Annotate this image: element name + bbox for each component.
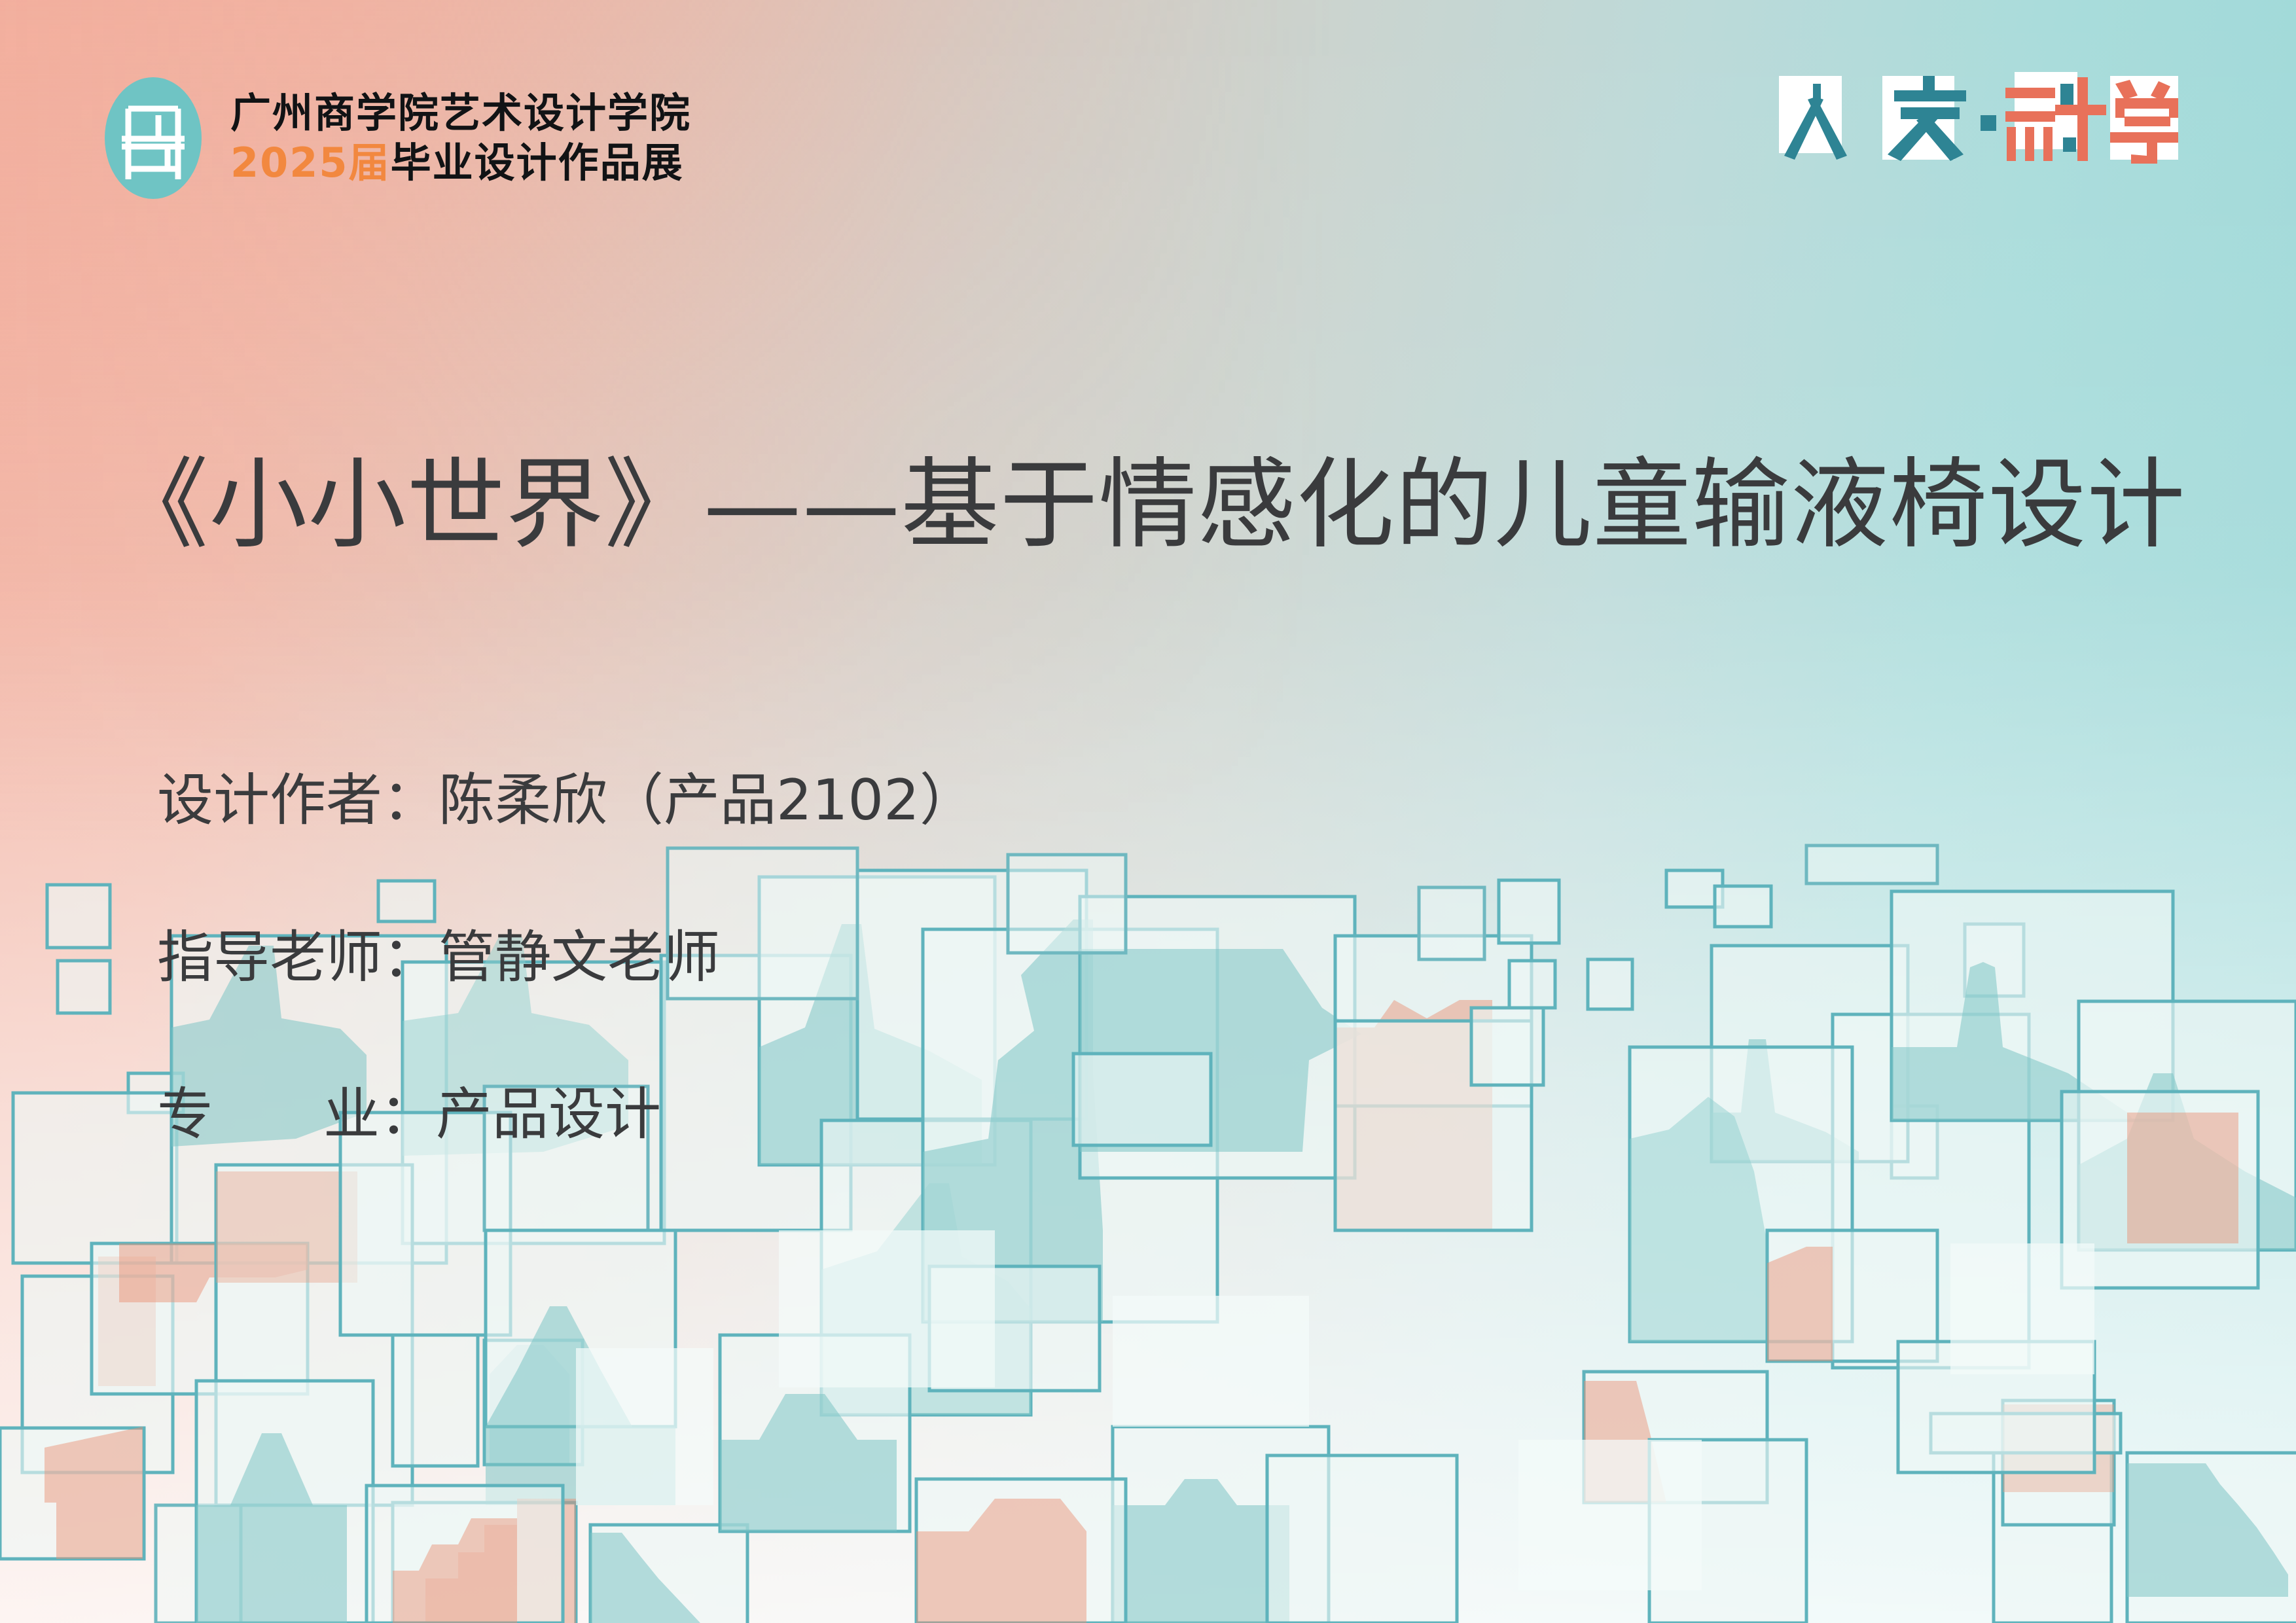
exhibition-year: 2025届 (230, 139, 391, 187)
chair-monogram-logo-icon (105, 77, 202, 199)
major-text: 专业：产品设计 (157, 1086, 661, 1143)
author-text: 设计作者：陈柔欣（产品2102） (157, 772, 976, 829)
page-title-text: 《小小世界》——基于情感化的儿童输液椅设计 (0, 452, 2296, 560)
author-line: 设计作者：陈柔欣（产品2102） (157, 772, 976, 829)
major-label-a: 专 (157, 1082, 213, 1147)
school-brand: 广州商学院艺术设计学院 2025届毕业设计作品展 (105, 77, 691, 199)
advisor-line: 指导老师：管静文老师 (157, 929, 720, 986)
school-brand-text: 广州商学院艺术设计学院 2025届毕业设计作品展 (230, 93, 691, 183)
exhibition-name: 2025届毕业设计作品展 (230, 143, 691, 183)
major-label-b: 业：产品设计 (323, 1082, 661, 1147)
advisor-text: 指导老师：管静文老师 (157, 929, 720, 986)
poster-header: 广州商学院艺术设计学院 2025届毕业设计作品展 (0, 0, 2296, 223)
school-name: 广州商学院艺术设计学院 (230, 93, 691, 134)
major-line: 专业：产品设计 (157, 1086, 661, 1143)
exhibition-label: 毕业设计作品展 (391, 139, 684, 187)
poster-canvas: .ol{fill:#eef7f6;fill-opacity:.62;stroke… (0, 0, 2296, 1623)
page-title: 《小小世界》——基于情感化的儿童输液椅设计 (0, 452, 2296, 560)
renwen-kexue-wordmark-icon (1772, 64, 2191, 169)
